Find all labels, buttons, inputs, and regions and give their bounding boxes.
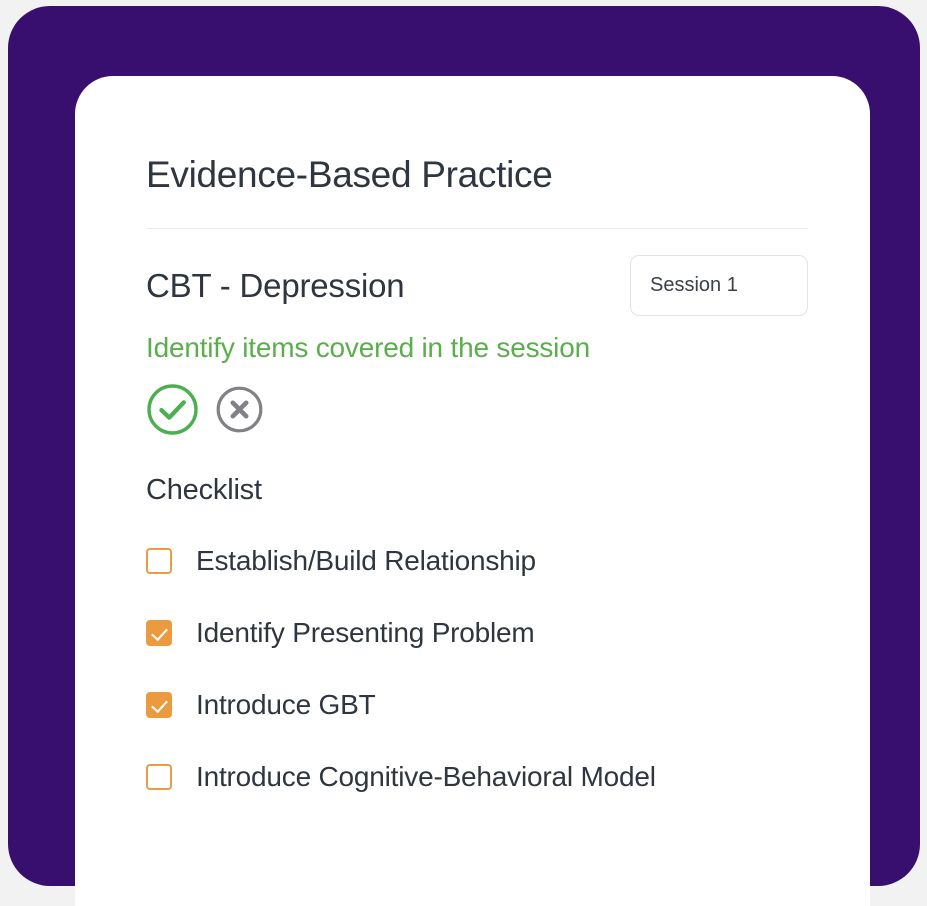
app-card: Evidence-Based Practice CBT - Depression… <box>75 76 870 906</box>
checklist: Establish/Build RelationshipIdentify Pre… <box>146 507 808 799</box>
instruction-text: Identify items covered in the session <box>146 317 808 365</box>
session-chip-label: Session 1 <box>650 274 738 297</box>
checklist-item-label: Introduce Cognitive-Behavioral Model <box>196 761 656 793</box>
checklist-item-label: Introduce GBT <box>196 689 375 721</box>
accept-button[interactable] <box>146 383 199 436</box>
checklist-item-label: Establish/Build Relationship <box>196 545 536 577</box>
decision-buttons <box>146 381 808 437</box>
checklist-item[interactable]: Introduce Cognitive-Behavioral Model <box>146 754 808 799</box>
device-frame: Evidence-Based Practice CBT - Depression… <box>8 6 920 886</box>
checkbox-unchecked-icon[interactable] <box>146 548 172 574</box>
checklist-item[interactable]: Identify Presenting Problem <box>146 610 808 655</box>
session-selector[interactable]: Session 1 <box>630 255 808 316</box>
title-divider <box>146 228 808 229</box>
checkbox-checked-icon[interactable] <box>146 692 172 718</box>
reject-button[interactable] <box>215 385 264 434</box>
check-circle-icon <box>146 424 199 439</box>
page-title: Evidence-Based Practice <box>146 76 808 196</box>
x-circle-icon <box>215 422 264 437</box>
protocol-row: CBT - Depression Session 1 <box>146 255 808 317</box>
checklist-item-label: Identify Presenting Problem <box>196 617 535 649</box>
checkbox-checked-icon[interactable] <box>146 620 172 646</box>
checklist-item[interactable]: Introduce GBT <box>146 682 808 727</box>
checklist-item[interactable]: Establish/Build Relationship <box>146 538 808 583</box>
checklist-heading: Checklist <box>146 437 808 507</box>
card-content: Evidence-Based Practice CBT - Depression… <box>146 76 808 826</box>
checkbox-unchecked-icon[interactable] <box>146 764 172 790</box>
